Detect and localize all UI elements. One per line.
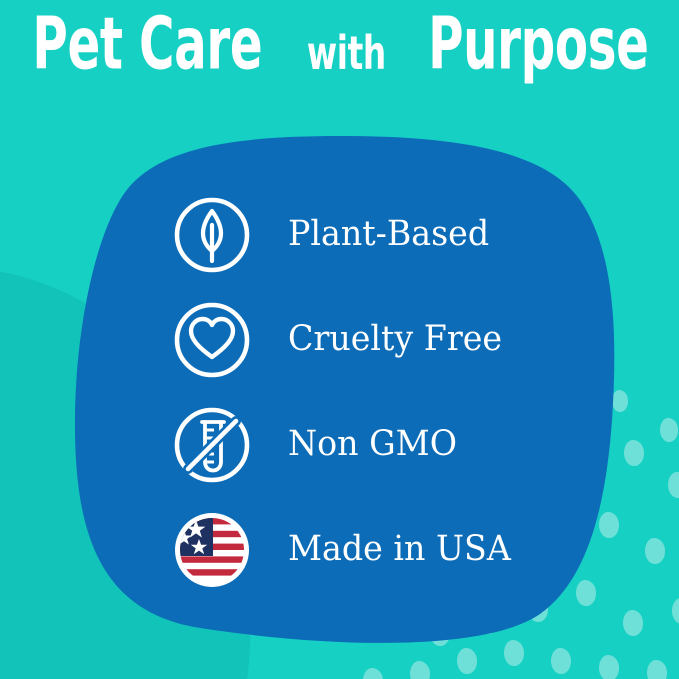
headline-part-three: Purpose bbox=[428, 8, 648, 80]
feature-label-plant-based: Plant-Based bbox=[288, 217, 489, 252]
no-gmo-test-tube-icon bbox=[172, 405, 252, 485]
leaf-in-circle-icon bbox=[172, 195, 252, 275]
feature-row-cruelty-free: Cruelty Free bbox=[172, 287, 602, 392]
page-title: Pet CarewithPurpose® bbox=[0, 18, 679, 80]
heart-in-circle-icon bbox=[172, 300, 252, 380]
feature-row-non-gmo: Non GMO bbox=[172, 392, 602, 497]
usa-flag-circle-icon bbox=[172, 510, 252, 590]
feature-list: Plant-Based Cruelty Free bbox=[172, 182, 602, 602]
headline-part-one: Pet Care bbox=[32, 8, 262, 80]
feature-label-made-in-usa: Made in USA bbox=[288, 532, 511, 567]
feature-row-plant-based: Plant-Based bbox=[172, 182, 602, 287]
feature-label-cruelty-free: Cruelty Free bbox=[288, 322, 502, 357]
headline-part-two: with bbox=[305, 31, 387, 77]
feature-row-made-in-usa: Made in USA bbox=[172, 497, 602, 602]
feature-label-non-gmo: Non GMO bbox=[288, 427, 457, 462]
pet-care-with-purpose-poster: Pet CarewithPurpose® Plant-Based Cruelty… bbox=[0, 0, 679, 679]
